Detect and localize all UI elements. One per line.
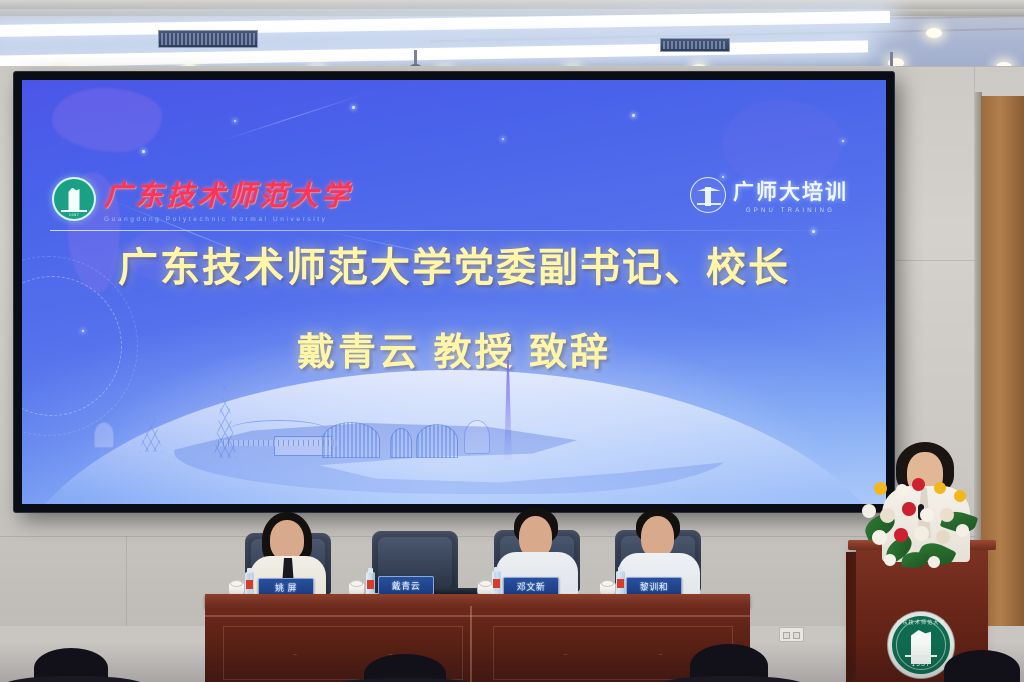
emblem-base-bar	[697, 203, 721, 205]
training-name-en: GPNU TRAINING	[733, 208, 848, 214]
leaf	[901, 551, 929, 570]
floral-arrangement	[858, 478, 982, 570]
university-emblem-icon: 1957	[52, 177, 96, 221]
flower	[940, 508, 954, 522]
kapok-flower	[94, 422, 114, 448]
outlet-socket	[793, 632, 800, 639]
foreground-vignette	[0, 642, 1024, 682]
led-screen: 1957 广东技术师范大学 Guangdong Polytechnic Norm…	[22, 80, 886, 504]
conference-hall-photo: 1957 广东技术师范大学 Guangdong Polytechnic Norm…	[0, 0, 1024, 682]
nameplate: 戴青云	[378, 576, 434, 595]
sprinkler-head	[414, 50, 417, 66]
flower	[954, 490, 966, 502]
logo-divider	[50, 230, 870, 231]
flower	[912, 478, 925, 491]
flower	[934, 482, 946, 494]
wall-power-outlet[interactable]	[779, 627, 804, 642]
flower	[872, 530, 887, 545]
flower	[874, 482, 887, 495]
flower	[956, 524, 969, 537]
training-logo-right: 广师大培训 GPNU TRAINING	[690, 176, 848, 214]
nameplate-text: 戴青云	[392, 579, 421, 592]
flower	[894, 528, 908, 542]
face	[641, 516, 674, 558]
face	[270, 520, 304, 560]
flower	[880, 508, 895, 523]
university-name-cn: 广东技术师范大学	[104, 174, 352, 214]
flower	[896, 484, 908, 496]
university-name-en: Guangdong Polytechnic Normal University	[104, 216, 352, 223]
university-logo-left: 1957 广东技术师范大学 Guangdong Polytechnic Norm…	[52, 174, 352, 223]
ceiling-band	[0, 0, 1024, 9]
flower	[862, 504, 876, 518]
flower	[928, 556, 940, 568]
air-vent	[660, 38, 730, 52]
ceiling-light-strip	[0, 40, 868, 67]
wall-seam	[126, 536, 127, 626]
title-line-1: 广东技术师范大学党委副书记、校长	[22, 235, 886, 293]
emblem-top-text: 广东技术师范大学	[892, 619, 950, 626]
flower	[914, 526, 929, 541]
flower	[920, 508, 934, 522]
outlet-socket	[783, 632, 790, 639]
table-rail	[205, 615, 750, 617]
flower	[884, 554, 896, 566]
air-vent	[158, 30, 258, 48]
nameplate-text: 姚 屏	[275, 581, 297, 594]
guangzhou-skyline-illustration	[22, 334, 886, 504]
wall-seam	[896, 66, 1024, 67]
ceiling	[0, 0, 1024, 72]
flower	[902, 502, 916, 516]
flower	[936, 530, 950, 544]
training-name-cn: 广师大培训	[733, 176, 848, 206]
nameplate-text: 黎训和	[640, 580, 669, 593]
training-emblem-icon	[690, 177, 726, 213]
emblem-year: 1957	[54, 212, 94, 217]
nameplate-text: 邓文新	[517, 580, 546, 593]
downlight	[926, 28, 942, 38]
